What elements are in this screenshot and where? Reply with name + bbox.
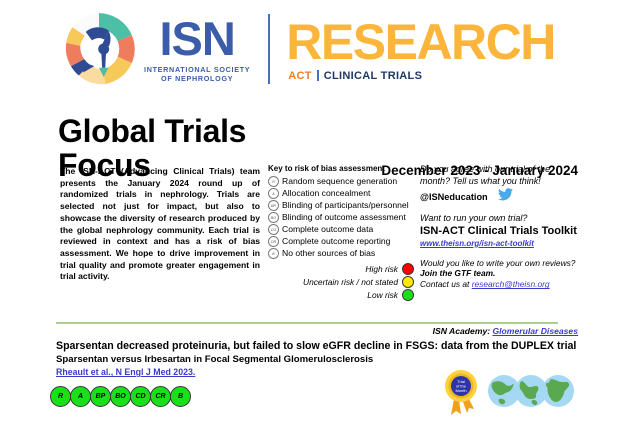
risk-legend-dot-uncertain [402,276,414,288]
contact-prefix: Contact us at [420,279,472,289]
key-item: BO Blinding of outcome assessment [268,212,418,223]
bias-dot: R [50,386,71,407]
reviews-question: Would you like to write your own reviews… [420,258,592,269]
logo-divider [268,14,270,84]
intro-paragraph: The ISN-ACT (Advancing Clinical Trials) … [60,166,260,283]
academy-topic-link[interactable]: Glomerular Diseases [492,326,578,336]
join-gtf-line: Join the GTF team. [420,268,592,279]
globe-group [487,374,575,408]
isn-subtitle-line-1: INTERNATIONAL SOCIETY [144,65,250,74]
risk-legend-label: Uncertain risk / not stated [303,277,398,287]
section-divider [56,322,558,324]
act-label: ACT [288,70,312,82]
key-item: BP Blinding of participants/personnel [268,200,418,211]
key-item-label: Allocation concealment [282,188,370,199]
risk-legend: High risk Uncertain risk / not stated Lo… [268,263,418,301]
promo-question-line-1: Do you agree with our trial of the [420,164,592,176]
promo-handle-row: @ISNeducation [420,188,592,206]
toolkit-link[interactable]: www.theisn.org/isn-act-toolkit [420,238,592,249]
isn-circle-mark-icon [60,10,138,88]
bias-code-icon: A [268,188,279,199]
promo-question-line-2: month? Tell us what you think! [420,176,592,188]
bias-code-icon: OR [268,236,279,247]
promo-spacer [420,206,592,213]
isn-wordmark: ISN INTERNATIONAL SOCIETY OF NEPHROLOGY [144,16,250,83]
promo-column: Do you agree with our trial of the month… [420,164,592,290]
globe-icon [541,374,575,408]
key-item: A Allocation concealment [268,188,418,199]
key-item-label: No other sources of bias [282,248,375,259]
bias-code-icon: R [268,176,279,187]
isn-subtitle: INTERNATIONAL SOCIETY OF NEPHROLOGY [144,65,250,83]
key-item: OR Complete outcome reporting [268,236,418,247]
risk-legend-label: Low risk [367,290,398,300]
article-title: Sparsentan decreased proteinuria, but fa… [56,340,596,353]
key-item: CO Complete outcome data [268,224,418,235]
key-item-label: Blinding of outcome assessment [282,212,406,223]
risk-legend-dot-low [402,289,414,301]
bias-dot: CR [150,386,171,407]
bias-dot: A [70,386,91,407]
twitter-bird-icon[interactable] [498,188,513,206]
isn-letters: ISN [159,16,234,62]
bias-dot: CD [130,386,151,407]
bias-code-icon: BP [268,200,279,211]
risk-legend-row: Uncertain risk / not stated [268,276,414,288]
act-clinical-trials-line: ACT CLINICAL TRIALS [288,70,555,82]
bias-dot: BP [90,386,111,407]
risk-legend-dot-high [402,263,414,275]
bias-code-icon: BO [268,212,279,223]
academy-prefix: ISN Academy: [433,326,493,336]
risk-of-bias-key: Key to risk of bias assessment R Random … [268,164,418,302]
bias-dot: B [170,386,191,407]
key-item-label: Complete outcome data [282,224,373,235]
contact-row: Contact us at research@theisn.org [420,279,592,290]
isn-subtitle-line-2: OF NEPHROLOGY [144,74,250,83]
body-columns: The ISN-ACT (Advancing Clinical Trials) … [0,164,630,304]
research-block: RESEARCH ACT CLINICAL TRIALS [286,17,555,82]
article-subtitle: Sparsentan versus Irbesartan in Focal Se… [56,354,596,366]
risk-legend-label: High risk [365,264,398,274]
article-citation-link[interactable]: Rheault et al., N Engl J Med 2023. [56,367,195,377]
bias-code-icon: CO [268,224,279,235]
isn-academy-line: ISN Academy: Glomerular Diseases [433,326,578,336]
isn-research-logo: ISN INTERNATIONAL SOCIETY OF NEPHROLOGY … [60,10,555,88]
risk-legend-row: Low risk [268,289,414,301]
risk-key-title: Key to risk of bias assessment [268,164,418,173]
header: ISN INTERNATIONAL SOCIETY OF NEPHROLOGY … [0,0,630,100]
bias-code-icon: B [268,248,279,259]
clinical-trials-label: CLINICAL TRIALS [324,70,422,82]
promo-spacer-2 [420,249,592,258]
key-item: B No other sources of bias [268,248,418,259]
act-divider [317,70,319,81]
key-item: R Random sequence generation [268,176,418,187]
trial-of-the-month-rosette-icon: Trial of the Month [441,369,481,415]
toolkit-name: ISN-ACT Clinical Trials Toolkit [420,225,592,238]
newsletter-page: ISN INTERNATIONAL SOCIETY OF NEPHROLOGY … [0,0,630,425]
svg-text:Month: Month [455,388,466,393]
twitter-handle[interactable]: @ISNeducation [420,192,488,202]
key-item-label: Complete outcome reporting [282,236,390,247]
research-wordmark: RESEARCH [286,17,555,67]
bias-dot: BO [110,386,131,407]
run-trial-question: Want to run your own trial? [420,213,592,225]
contact-email-link[interactable]: research@theisn.org [472,279,550,289]
key-item-label: Random sequence generation [282,176,397,187]
key-item-label: Blinding of participants/personnel [282,200,409,211]
risk-legend-row: High risk [268,263,414,275]
article-bias-dots: R A BP BO CD CR B [50,386,190,407]
